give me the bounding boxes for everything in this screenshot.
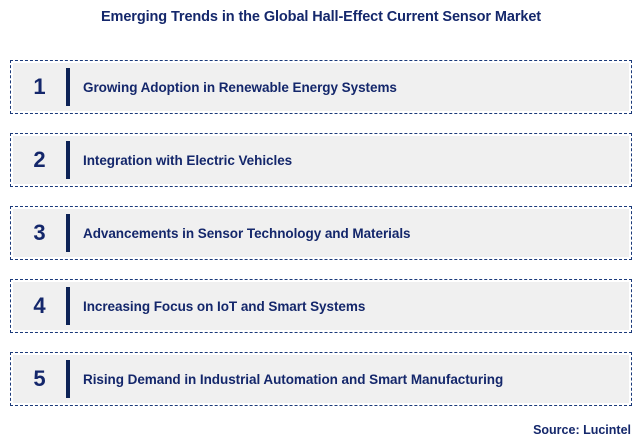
trend-label: Advancements in Sensor Technology and Ma… — [70, 226, 629, 241]
trend-number: 4 — [13, 295, 66, 318]
trend-row: 1 Growing Adoption in Renewable Energy S… — [10, 60, 632, 114]
trend-label: Integration with Electric Vehicles — [70, 153, 629, 168]
trend-row-content: 3 Advancements in Sensor Technology and … — [13, 209, 629, 257]
trend-number: 3 — [13, 222, 66, 245]
trend-row: 5 Rising Demand in Industrial Automation… — [10, 352, 632, 406]
trend-row: 2 Integration with Electric Vehicles — [10, 133, 632, 187]
trend-list: 1 Growing Adoption in Renewable Energy S… — [10, 60, 632, 425]
trend-row-content: 5 Rising Demand in Industrial Automation… — [13, 355, 629, 403]
trend-row-content: 1 Growing Adoption in Renewable Energy S… — [13, 63, 629, 111]
page-title: Emerging Trends in the Global Hall-Effec… — [0, 9, 642, 25]
trend-label: Growing Adoption in Renewable Energy Sys… — [70, 80, 629, 95]
trend-row-content: 4 Increasing Focus on IoT and Smart Syst… — [13, 282, 629, 330]
trend-row: 3 Advancements in Sensor Technology and … — [10, 206, 632, 260]
trend-number: 5 — [13, 368, 66, 391]
source-attribution: Source: Lucintel — [533, 423, 631, 437]
trend-number: 2 — [13, 149, 66, 172]
trend-row: 4 Increasing Focus on IoT and Smart Syst… — [10, 279, 632, 333]
trend-number: 1 — [13, 76, 66, 99]
trend-label: Increasing Focus on IoT and Smart System… — [70, 299, 629, 314]
trend-label: Rising Demand in Industrial Automation a… — [70, 372, 629, 387]
trend-row-content: 2 Integration with Electric Vehicles — [13, 136, 629, 184]
